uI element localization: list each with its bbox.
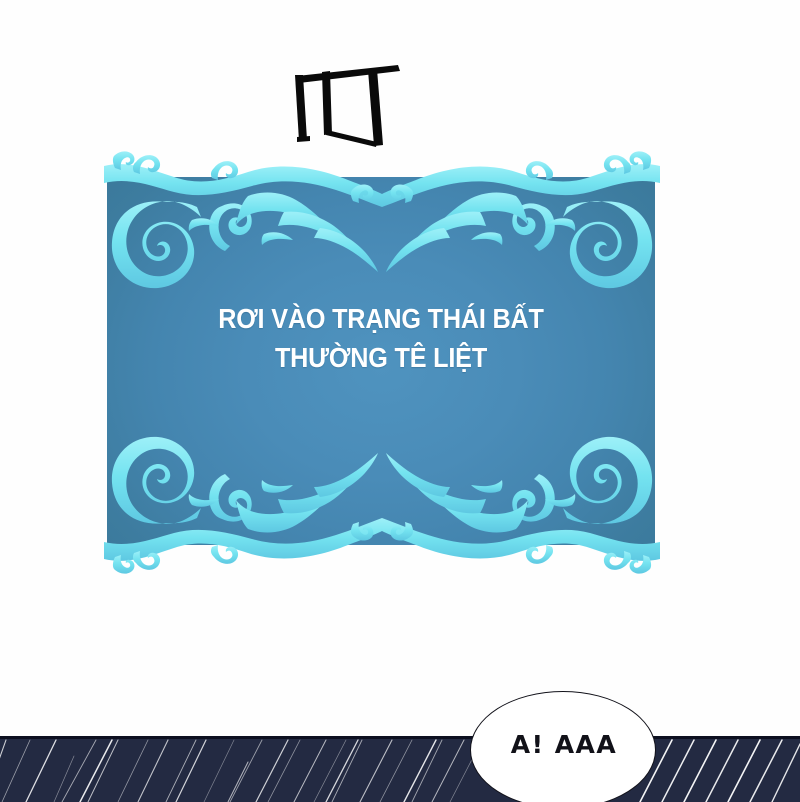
black-ink-sketch (270, 45, 450, 160)
dark-background-panel (0, 736, 800, 802)
banner-text: RƠI VÀO TRẠNG THÁI BẤT THƯỜNG TÊ LIỆT (134, 300, 627, 377)
speed-lines (0, 736, 800, 802)
comic-panel: RƠI VÀO TRẠNG THÁI BẤT THƯỜNG TÊ LIỆT (0, 0, 800, 802)
scream-bubble-text: A! AAA (471, 730, 657, 759)
status-banner: RƠI VÀO TRẠNG THÁI BẤT THƯỜNG TÊ LIỆT (96, 150, 668, 575)
scream-bubble: A! AAA (470, 691, 656, 802)
sketch-svg (270, 45, 450, 160)
